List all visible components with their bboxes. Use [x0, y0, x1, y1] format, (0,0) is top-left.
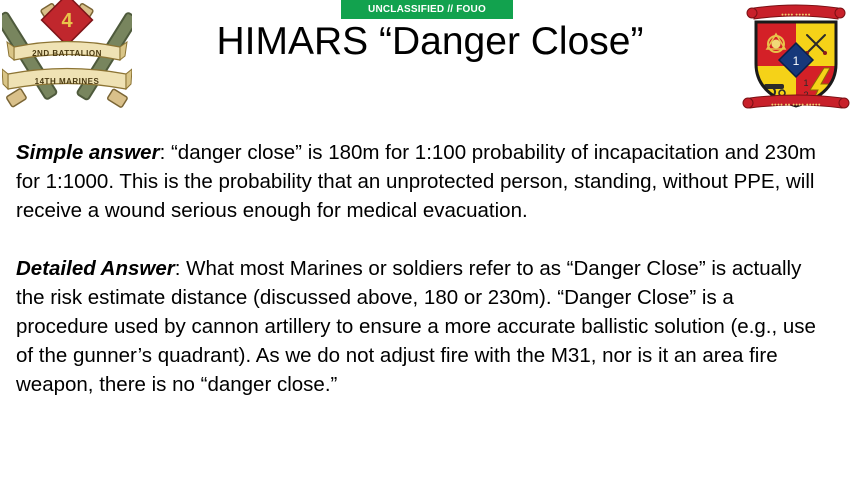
paragraph-simple-answer: Simple answer: “danger close” is 180m fo… [16, 138, 828, 226]
paragraph-detailed-answer: Detailed Answer: What most Marines or so… [16, 254, 828, 400]
paragraph-lead-label: Detailed Answer [16, 257, 175, 280]
crest-top-scroll-text: ●●●● ●●●●● [781, 12, 811, 17]
slide-canvas: UNCLASSIFIED // FOUO HIMARS “Danger Clos… [0, 0, 856, 478]
insignia-scroll-bottom-text: 14TH MARINES [35, 77, 100, 86]
regimental-crest-icon: ●●●● ●●●●● [740, 2, 852, 112]
classification-banner: UNCLASSIFIED // FOUO [341, 0, 513, 19]
page-title: HIMARS “Danger Close” [140, 22, 720, 63]
crest-bottom-scroll-text: ●●●● ●● ●●●● ●●●●● [771, 102, 821, 107]
battalion-insignia-icon: 4 2ND BATTALION 14TH MARINES [2, 0, 132, 112]
paragraph-lead-label: Simple answer [16, 141, 160, 164]
svg-text:1: 1 [803, 78, 808, 88]
body-content: Simple answer: “danger close” is 180m fo… [16, 138, 828, 400]
insignia-scroll-top-text: 2ND BATTALION [32, 49, 102, 58]
crest-center-diamond-number: 1 [793, 54, 800, 68]
insignia-diamond-number: 4 [61, 10, 73, 32]
